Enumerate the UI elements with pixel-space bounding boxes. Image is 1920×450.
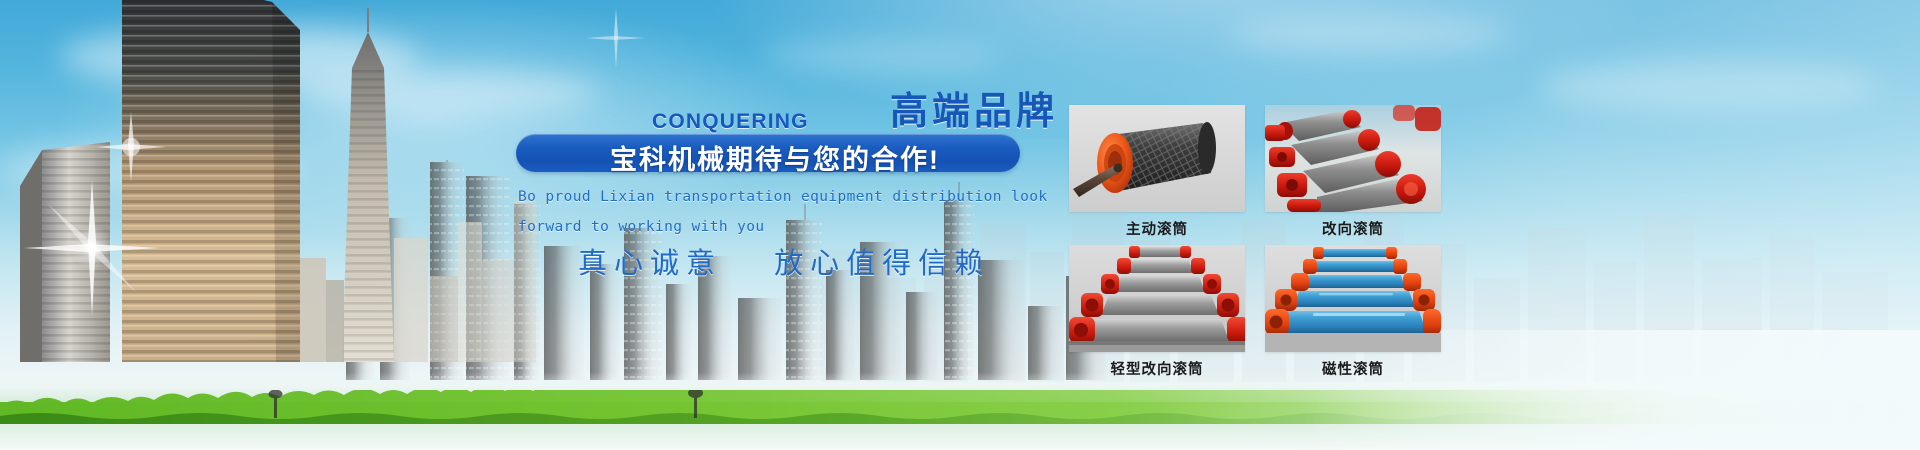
eyebrow-label: CONQUERING: [652, 110, 809, 134]
product-image-bend-pulley: [1265, 105, 1441, 212]
cloud: [1230, 14, 1510, 54]
english-line-2: forward to working with you: [518, 212, 1048, 242]
english-line-1: Bo proud Lixian transportation equipment…: [518, 182, 1048, 212]
product-grid: 主动滚筒: [1069, 105, 1441, 400]
slogan-left: 真心诚意: [578, 248, 722, 280]
product-caption: 主动滚筒: [1069, 218, 1245, 239]
product-caption: 磁性滚筒: [1265, 358, 1441, 379]
product-image-magnetic-pulley: [1265, 245, 1441, 352]
product-caption: 改向滚筒: [1265, 218, 1441, 239]
english-description: Bo proud Lixian transportation equipment…: [518, 182, 1048, 242]
product-caption: 轻型改向滚筒: [1069, 358, 1245, 379]
product-card-drive-pulley[interactable]: 主动滚筒: [1069, 105, 1245, 220]
hero-banner: 高端品牌 CONQUERING 宝科机械期待与您的合作! Bo proud Li…: [0, 0, 1920, 450]
brand-headline: 高端品牌: [890, 80, 1058, 135]
foreground-skyscrapers: [0, 0, 560, 390]
product-image-drive-pulley: [1069, 105, 1245, 212]
headline-pill-text: 宝科机械期待与您的合作!: [610, 138, 940, 177]
product-image-light-bend-pulley: [1069, 245, 1245, 352]
slogan-line: 真心诚意 放心值得信赖: [578, 240, 990, 282]
product-card-bend-pulley[interactable]: 改向滚筒: [1265, 105, 1441, 220]
product-card-light-bend-pulley[interactable]: 轻型改向滚筒: [1069, 245, 1245, 360]
product-card-magnetic-pulley[interactable]: 磁性滚筒: [1265, 245, 1441, 360]
slogan-right: 放心值得信赖: [774, 248, 990, 280]
cloud: [1540, 60, 1880, 112]
cloud: [760, 40, 1000, 74]
